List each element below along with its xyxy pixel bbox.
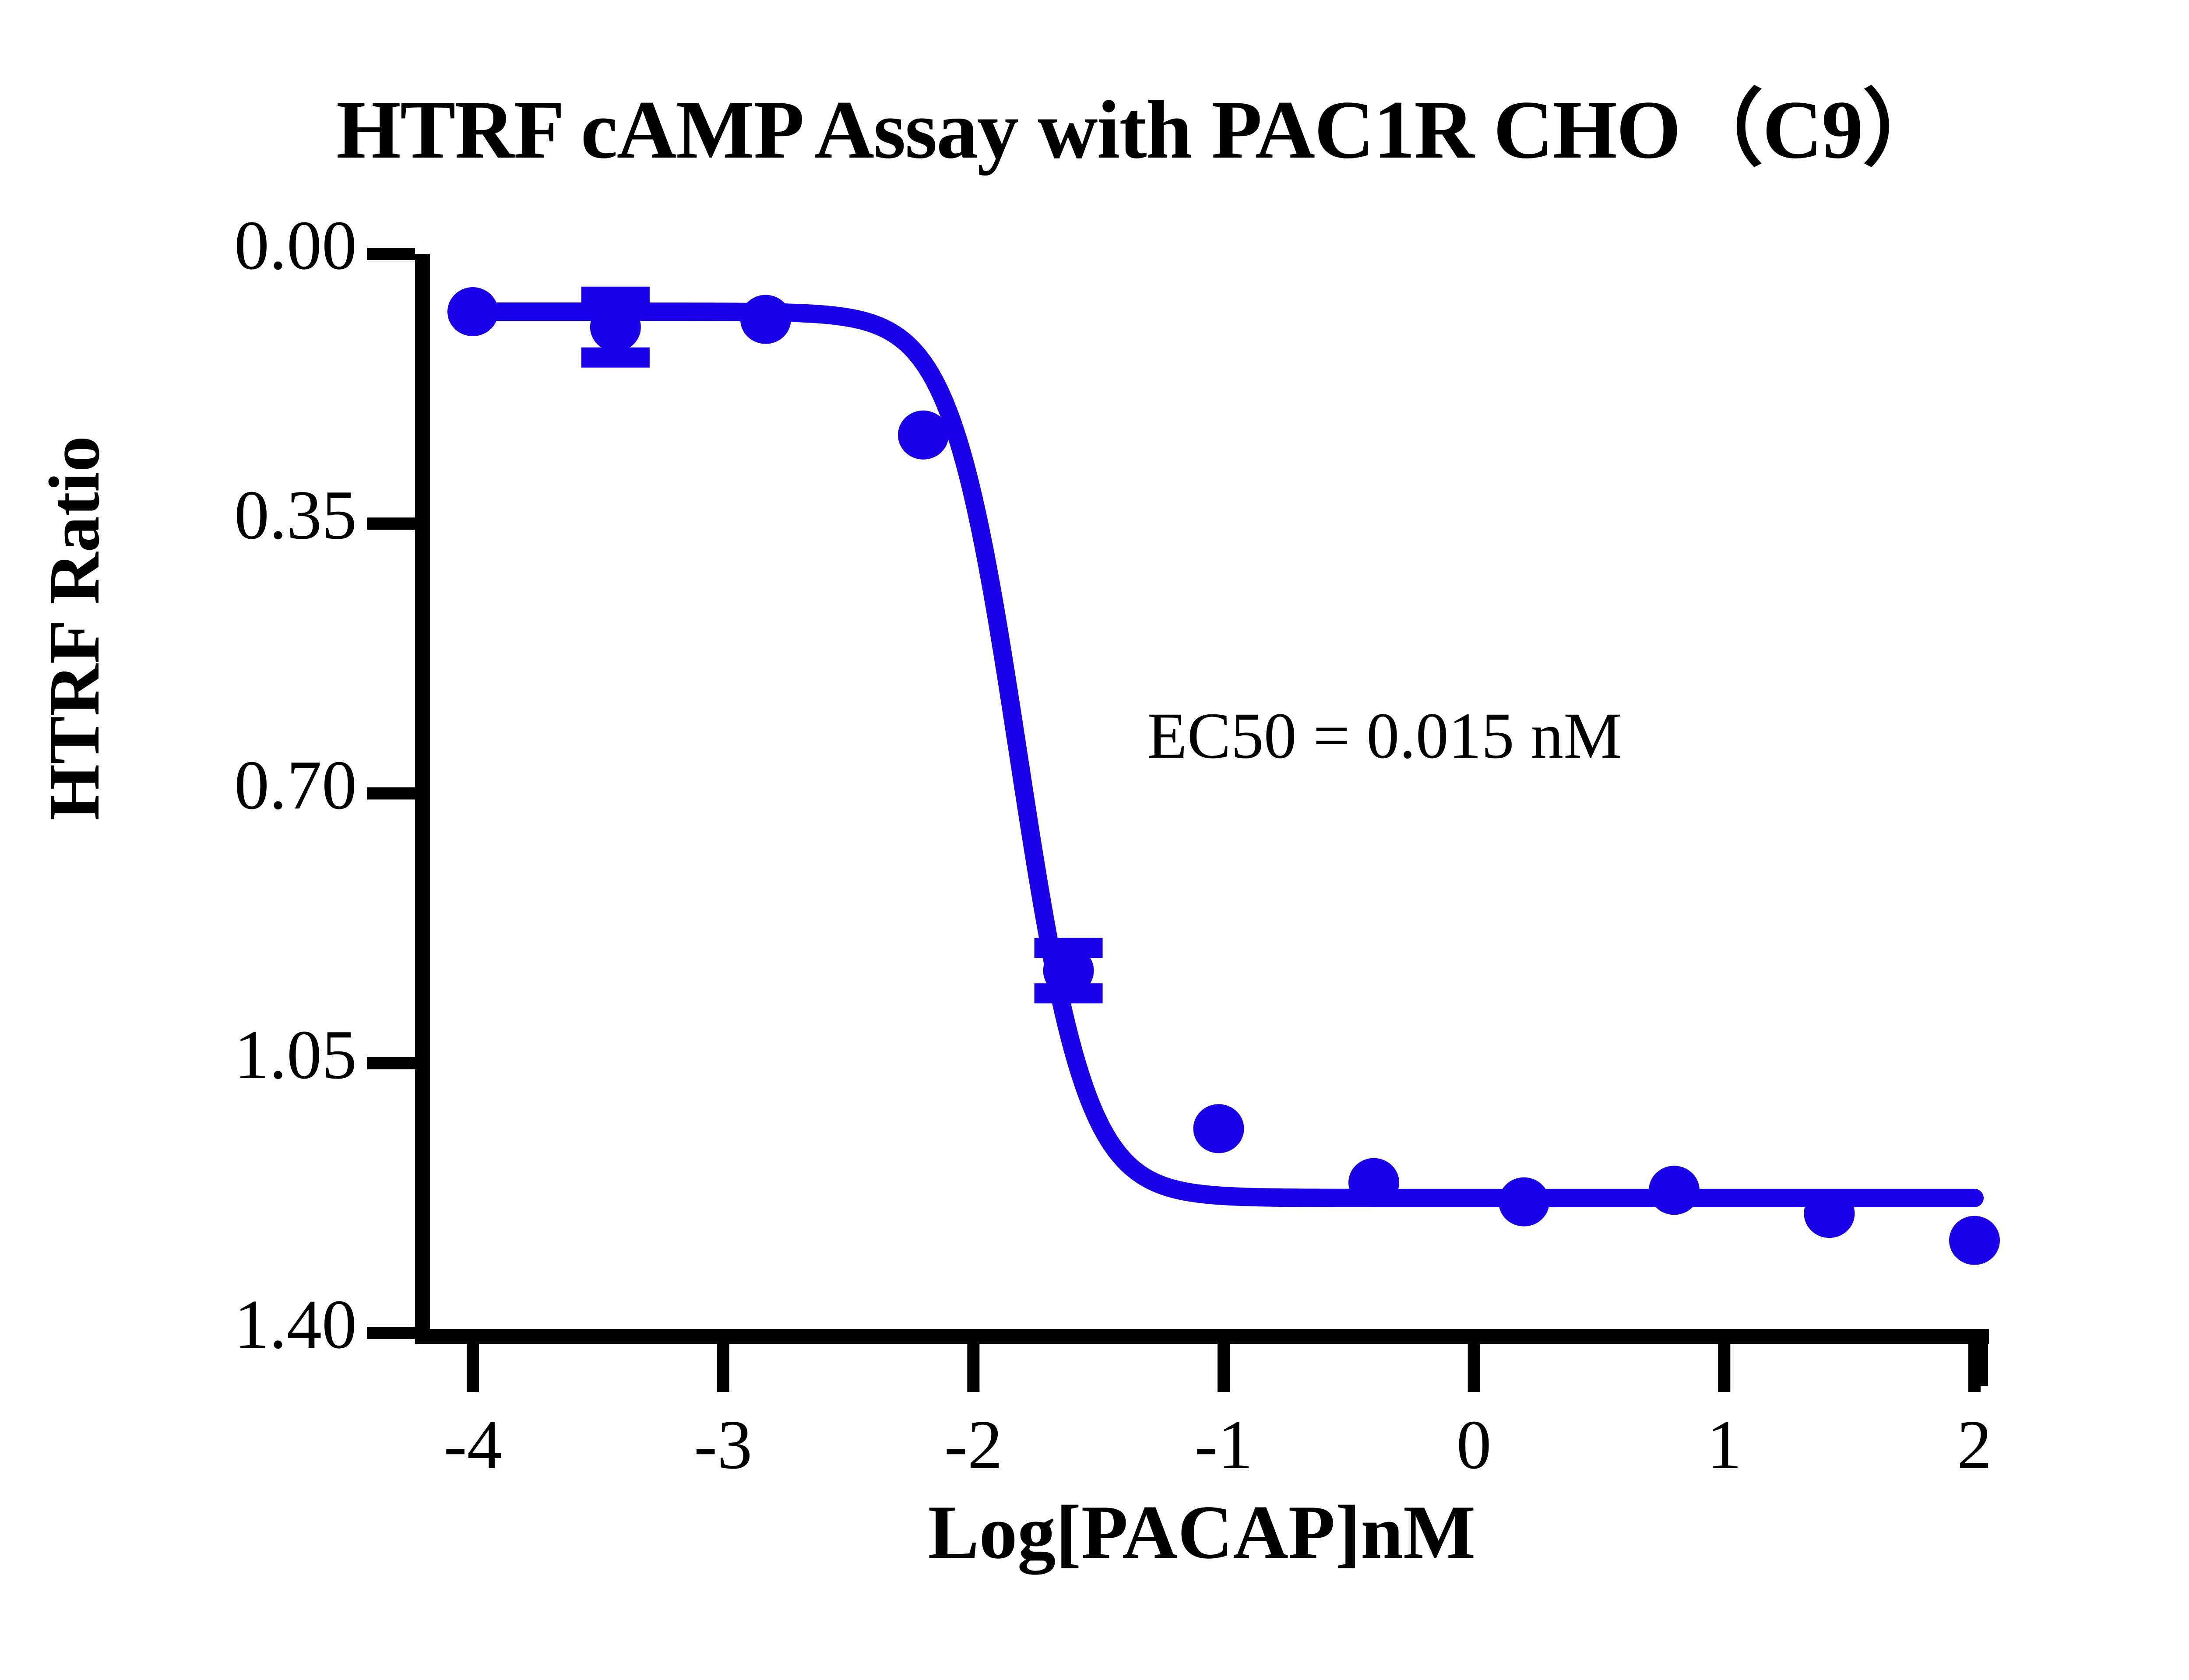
- x-tick-label: -4: [407, 1404, 538, 1485]
- x-tick-label: 0: [1408, 1404, 1540, 1485]
- y-tick-label: 1.40: [85, 1284, 357, 1365]
- chart-figure: HTRF cAMP Assay with PAC1R CHO（C9） HTRF …: [0, 0, 2189, 1680]
- data-point-marker: [1193, 1104, 1244, 1153]
- x-tick-label: 2: [1909, 1404, 2040, 1485]
- error-bars: [581, 287, 1103, 1003]
- y-tick-label: 0.35: [85, 474, 357, 555]
- y-tick-label: 0.70: [85, 745, 357, 826]
- data-point-marker: [1499, 1177, 1549, 1227]
- x-axis-title: Log[PACAP]nM: [422, 1488, 1981, 1576]
- x-tick-label: 1: [1658, 1404, 1790, 1485]
- y-tick-label: 0.00: [85, 205, 357, 286]
- y-tick-label: 1.05: [85, 1014, 357, 1095]
- data-point-marker: [1043, 946, 1094, 995]
- axis-lines: [367, 248, 1989, 1392]
- data-point-marker: [740, 295, 791, 344]
- x-tick-label: -1: [1158, 1404, 1289, 1485]
- ec50-annotation: EC50 = 0.015 nM: [1147, 698, 1622, 773]
- x-tick-label: -2: [908, 1404, 1039, 1485]
- data-points: [447, 287, 2000, 1265]
- data-point-marker: [1649, 1166, 1700, 1215]
- data-point-marker: [1804, 1189, 1855, 1238]
- data-point-marker: [1949, 1216, 2000, 1265]
- data-point-marker: [447, 287, 498, 336]
- data-point-marker: [590, 302, 641, 351]
- data-point-marker: [898, 411, 949, 460]
- x-tick-label: -3: [658, 1404, 789, 1485]
- data-point-marker: [1348, 1158, 1399, 1207]
